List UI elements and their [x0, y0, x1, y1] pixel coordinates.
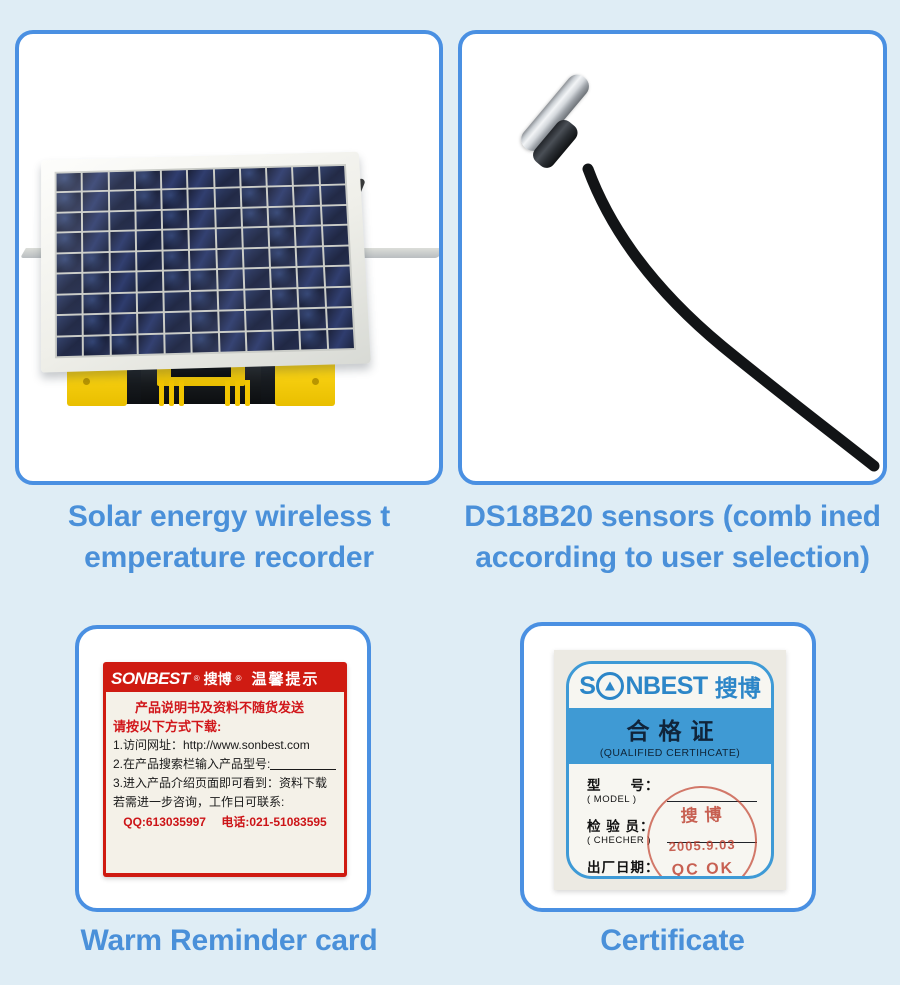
solar-cell [299, 288, 325, 308]
solar-cell [274, 330, 300, 350]
solar-cell [328, 329, 354, 349]
solar-cell [188, 169, 213, 188]
solar-cell [298, 267, 324, 286]
product-card-warm-reminder[interactable]: SONBEST ® 搜博 ® 温馨提示 产品说明书及资料不随货发送 请按以下方式… [75, 625, 371, 912]
solar-cell [57, 274, 82, 293]
solar-cell [270, 227, 295, 246]
solar-cell [83, 172, 108, 191]
reminder-qq: QQ:613035997 [123, 815, 206, 829]
solar-cell [136, 211, 161, 230]
solar-cell [191, 291, 216, 311]
certificate-title-en: (QUALIFIED CERTIHCATE) [569, 747, 771, 759]
field-label-checker-cn: 检 验 员： [587, 815, 665, 835]
reminder-step-3: 3.进入产品介绍页面即可看到：资料下载 [113, 774, 337, 793]
solar-cell [136, 171, 161, 190]
reminder-brand-registered-mark: ® [194, 674, 200, 683]
mounting-hole [83, 378, 90, 385]
panel-frame [41, 152, 371, 373]
solar-cell [137, 272, 162, 291]
solar-cell [83, 192, 108, 211]
solar-cell [218, 270, 243, 289]
logo-mountain-icon [596, 672, 624, 700]
solar-cell [110, 232, 135, 251]
certificate-logo: SNBEST 搜博 [569, 664, 771, 708]
reminder-step-2: 2.在产品搜索栏输入产品型号: [113, 755, 337, 774]
solar-cell [300, 309, 326, 329]
solar-cell [242, 188, 267, 207]
solar-cell [83, 232, 108, 251]
certificate-field-model: 型 号： ( MODEL ) [587, 774, 757, 805]
solar-cell [269, 207, 294, 226]
solar-cell [163, 210, 188, 229]
product-card-solar-recorder[interactable] [15, 30, 443, 485]
reminder-headline-1: 产品说明书及资料不随货发送 [113, 698, 337, 717]
caption-solar-recorder: Solar energy wireless t emperature recor… [15, 496, 443, 578]
reminder-title-cn: 温馨提示 [252, 668, 320, 689]
certificate-photo: SNBEST 搜博 合格证 (QUALIFIED CERTIHCATE) 搜博 … [554, 650, 786, 890]
solar-cell [241, 168, 266, 187]
certificate-fields: 搜博 2005.9.03 QC OK 型 号： ( MODEL ) 检 [569, 764, 771, 879]
reminder-step-1: 1.访问网址：http://www.sonbest.com [113, 736, 337, 755]
solar-cell [83, 212, 108, 231]
bracket-fin [235, 380, 240, 406]
bracket-fin [225, 380, 230, 406]
bracket-fin [159, 380, 164, 406]
solar-cell [247, 331, 273, 351]
solar-cell [273, 310, 299, 330]
solar-cell [111, 335, 136, 355]
solar-cell [138, 334, 164, 354]
solar-cell [190, 250, 215, 269]
field-label-date-en: ( D A T E ) [587, 876, 665, 879]
product-gallery-page: Solar energy wireless t emperature recor… [0, 0, 900, 985]
product-card-ds18b20[interactable] [458, 30, 887, 485]
solar-cell [217, 249, 242, 268]
logo-letters-nbest: NBEST [625, 672, 707, 701]
solar-cell [110, 273, 135, 292]
field-label-checker-en: ( CHECHER ) [587, 835, 665, 846]
solar-cell [83, 253, 108, 272]
field-label-model-en: ( MODEL ) [587, 794, 665, 805]
solar-cell [57, 336, 82, 356]
reminder-step-2-text: 2.在产品搜索栏输入产品型号: [113, 757, 270, 771]
solar-cell [244, 269, 270, 288]
solar-cell [165, 333, 191, 353]
ds18b20-temperature-probe-photo [462, 34, 883, 481]
solar-cell [272, 289, 298, 309]
solar-cell [109, 191, 134, 210]
solar-cell [322, 206, 348, 225]
solar-cell [57, 295, 82, 315]
certificate-field-date: 出厂日期： ( D A T E ) [587, 856, 757, 879]
field-label-checker: 检 验 员： ( CHECHER ) [587, 815, 665, 846]
reminder-brand-cn-registered-mark: ® [236, 674, 242, 683]
field-label-model: 型 号： ( MODEL ) [587, 774, 665, 805]
certificate-title-cn: 合格证 [569, 712, 771, 746]
field-label-date: 出厂日期： ( D A T E ) [587, 856, 665, 879]
solar-cell [268, 187, 293, 206]
solar-cell [216, 229, 241, 248]
field-rule-checker [667, 842, 757, 843]
solar-cell [162, 190, 187, 209]
solar-cell [57, 193, 82, 212]
solar-cell [189, 189, 214, 208]
solar-cell-grid [55, 164, 356, 358]
solar-cell [57, 173, 82, 192]
certificate-field-checker: 检 验 员： ( CHECHER ) [587, 815, 757, 846]
reminder-model-blank [270, 769, 336, 770]
solar-cell [295, 206, 320, 225]
solar-cell [84, 315, 109, 335]
solar-cell [215, 189, 240, 208]
solar-cell [189, 209, 214, 228]
field-label-date-cn: 出厂日期： [587, 856, 665, 876]
solar-cell [137, 231, 162, 250]
reminder-contact-line: QQ:613035997 电话:021-51083595 [113, 815, 337, 831]
solar-cell [137, 251, 162, 270]
solar-cell [138, 313, 163, 333]
solar-cell [84, 336, 109, 356]
reminder-body: 产品说明书及资料不随货发送 请按以下方式下载: 1.访问网址：http://ww… [106, 692, 344, 873]
solar-cell [219, 311, 245, 331]
solar-cell [215, 169, 240, 188]
bracket-fin [169, 380, 174, 406]
caption-warm-reminder: Warm Reminder card [15, 920, 443, 961]
solar-cell [243, 228, 268, 247]
solar-cell [110, 211, 135, 230]
product-card-certificate[interactable]: SNBEST 搜博 合格证 (QUALIFIED CERTIHCATE) 搜博 … [520, 622, 816, 912]
logo-letter-s: S [579, 672, 595, 701]
reminder-brand-en: SONBEST [111, 669, 190, 689]
solar-cell [294, 186, 319, 205]
solar-cell [245, 290, 271, 310]
solar-cell [164, 292, 189, 312]
solar-panel [41, 152, 371, 373]
panel-glass [55, 164, 356, 358]
solar-cell [57, 213, 82, 232]
field-label-model-cn: 型 号： [587, 774, 665, 794]
certificate-inner-frame: SNBEST 搜博 合格证 (QUALIFIED CERTIHCATE) 搜博 … [566, 661, 774, 879]
solar-cell [325, 267, 351, 286]
solar-cell [109, 172, 134, 191]
certificate-logo-en: SNBEST [579, 672, 707, 701]
solar-cell [270, 248, 296, 267]
solar-cell [271, 268, 297, 287]
solar-cell [216, 209, 241, 228]
solar-cell [162, 170, 187, 189]
solar-cell [191, 270, 216, 289]
reminder-header: SONBEST ® 搜博 ® 温馨提示 [106, 665, 344, 692]
solar-cell [111, 293, 136, 313]
reminder-brand-cn: 搜博 [204, 669, 232, 689]
reminder-note: 若需进一步咨询，工作日可联系: [113, 793, 337, 812]
solar-cell [110, 252, 135, 271]
caption-certificate: Certificate [458, 920, 887, 961]
solar-cell [192, 333, 218, 353]
caption-ds18b20: DS18B20 sensors (comb ined according to … [458, 496, 887, 578]
solar-cell [84, 294, 109, 314]
solar-cell [164, 271, 189, 290]
warm-reminder-card-photo: SONBEST ® 搜博 ® 温馨提示 产品说明书及资料不随货发送 请按以下方式… [103, 662, 347, 877]
solar-cell [324, 246, 350, 265]
solar-cell [326, 287, 352, 307]
solar-cell [320, 166, 345, 185]
field-rule-model [667, 801, 757, 802]
solar-cell [57, 253, 82, 272]
solar-cell [218, 290, 244, 310]
solar-cell [244, 248, 269, 267]
solar-cell [242, 208, 267, 227]
solar-cell [297, 247, 323, 266]
solar-cell [164, 251, 189, 270]
solar-cell [136, 191, 161, 210]
certificate-logo-cn: 搜博 [715, 669, 761, 703]
solar-cell [138, 292, 163, 312]
solar-cell [220, 332, 246, 352]
solar-cell [190, 230, 215, 249]
solar-cell [111, 314, 136, 334]
solar-cell [267, 167, 292, 186]
solar-cell [165, 313, 191, 333]
solar-cell [327, 308, 353, 328]
solar-cell [293, 167, 318, 186]
solar-cell [57, 315, 82, 335]
solar-panel-recorder-photo [19, 34, 439, 481]
solar-cell [321, 186, 346, 205]
reminder-phone: 电话:021-51083595 [221, 815, 326, 829]
probe-cable [462, 34, 883, 481]
solar-cell [163, 230, 188, 249]
solar-cell [323, 226, 349, 245]
solar-cell [192, 312, 218, 332]
solar-cell [296, 227, 322, 246]
mounting-hole [312, 378, 319, 385]
solar-cell [84, 273, 109, 292]
solar-cell [57, 233, 82, 252]
bracket-fin [179, 380, 184, 406]
certificate-title-band: 合格证 (QUALIFIED CERTIHCATE) [569, 708, 771, 764]
reminder-headline-2: 请按以下方式下载: [113, 717, 337, 736]
bracket-fin [245, 380, 250, 406]
solar-cell [301, 330, 327, 350]
solar-cell [246, 310, 272, 330]
